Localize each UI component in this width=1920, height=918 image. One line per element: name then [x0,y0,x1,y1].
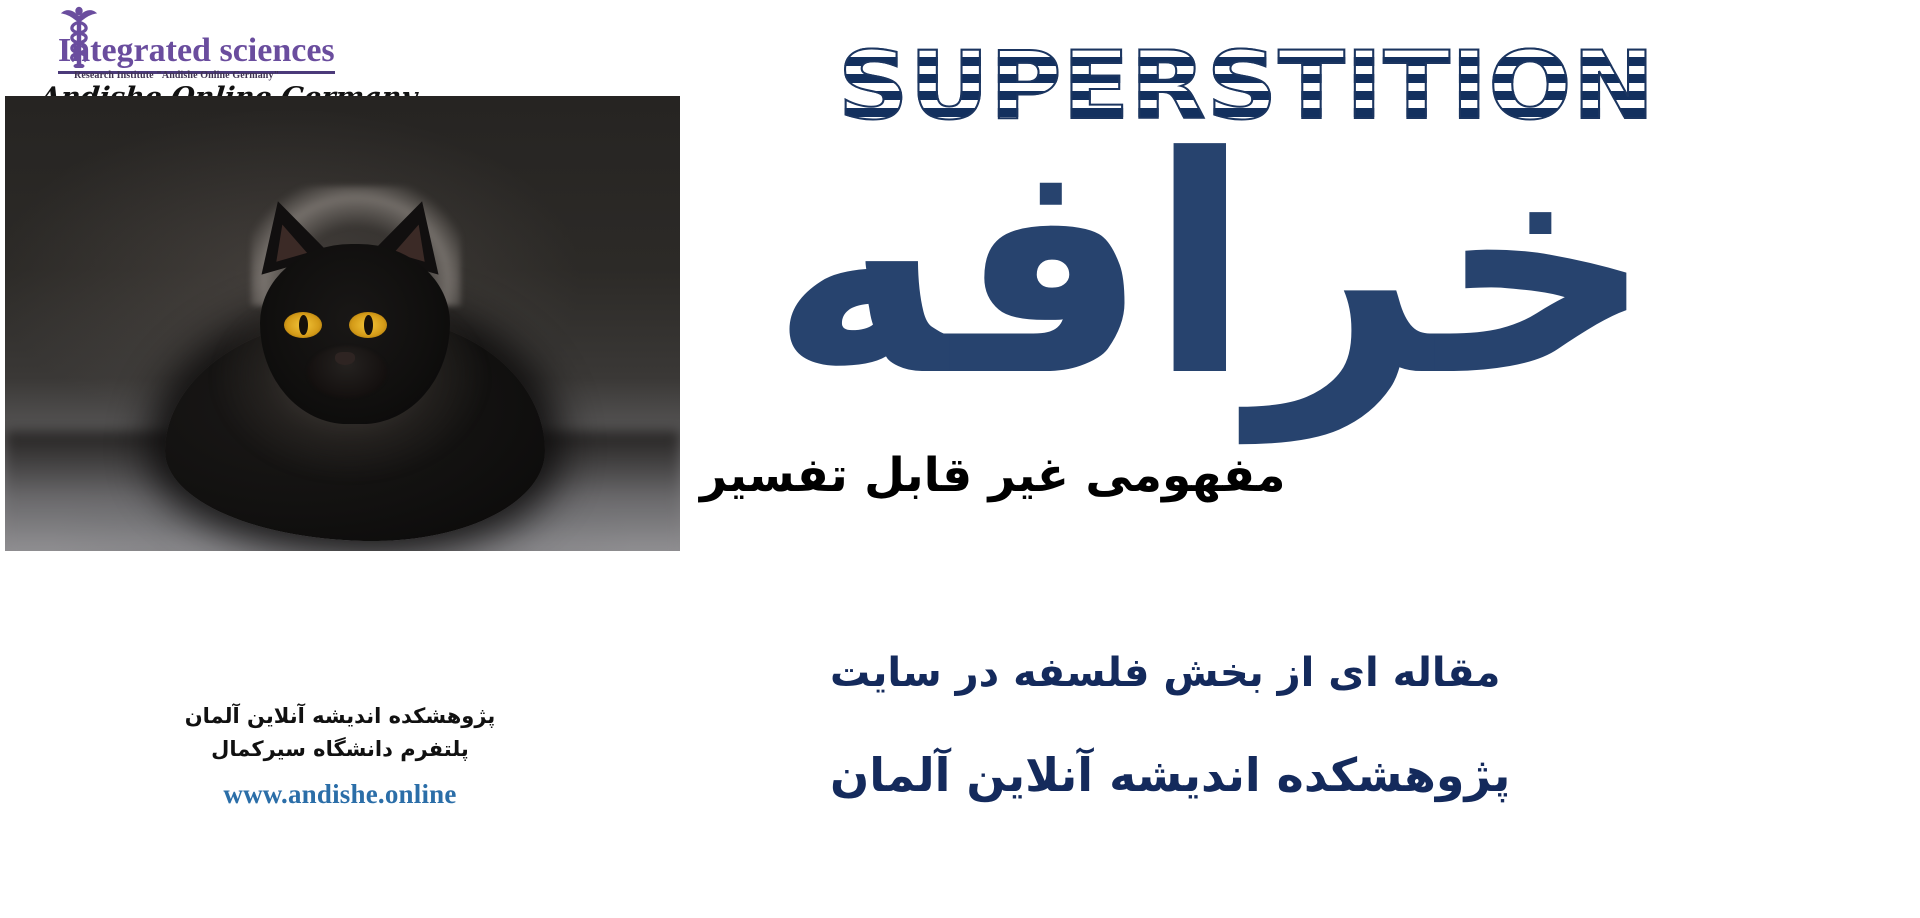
persian-headline: خرافه [770,110,1770,425]
poster-canvas: Integrated sciences Research Institute "… [0,0,1920,918]
website-url[interactable]: www.andishe.online [20,779,660,810]
cat-pupil-right [364,315,373,335]
persian-subtitle: مفهومی غیر قابل تفسیر [700,448,1460,503]
cat-illustration [155,166,555,546]
footer-line-1: مقاله ای از بخش فلسفه در سایت [830,650,1830,696]
footer-lines: مقاله ای از بخش فلسفه در سایت پژوهشکده ا… [830,650,1830,802]
cat-nose [335,352,355,365]
logo-subtitle: Research Institute "Andishe Online Germa… [74,70,279,81]
caption-line-2: پلتفرم دانشگاه سیرکمال [20,733,660,766]
logo-title: Integrated sciences [58,32,335,74]
caption-block: پژوهشکده اندیشه آنلاین آلمان پلتفرم دانش… [20,700,660,810]
black-cat-photo [5,96,680,551]
caption-line-1: پژوهشکده اندیشه آنلاین آلمان [20,700,660,733]
footer-line-2: پژوهشکده اندیشه آنلاین آلمان [830,748,1830,802]
cat-pupil-left [299,315,308,335]
